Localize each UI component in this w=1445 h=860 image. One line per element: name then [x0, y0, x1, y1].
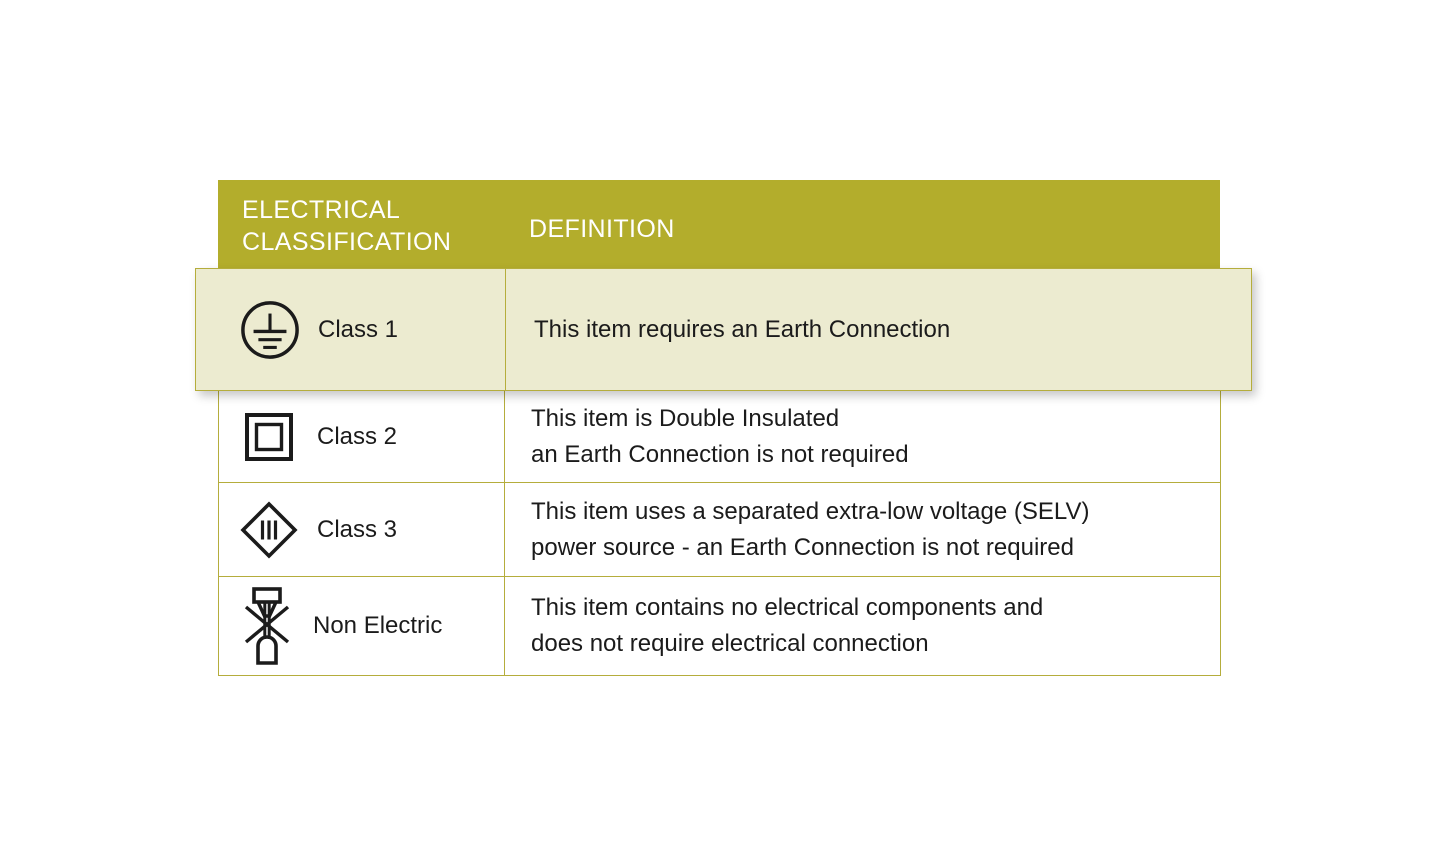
electrical-classification-table: ELECTRICAL CLASSIFICATION DEFINITION Cla… — [0, 0, 1445, 860]
table-row[interactable]: Class 3 This item uses a separated extra… — [219, 483, 1220, 577]
earth-ground-icon — [240, 300, 300, 360]
definition-text: This item uses a separated extra-low vol… — [531, 494, 1089, 565]
class-label: Non Electric — [313, 612, 442, 640]
class-label: Class 2 — [317, 423, 397, 451]
table-row-highlighted-class-1[interactable]: Class 1 This item requires an Earth Conn… — [195, 268, 1252, 391]
class-cell-class-1: Class 1 — [196, 269, 506, 390]
class-label: Class 1 — [318, 316, 398, 344]
class-cell-class-2: Class 2 — [219, 391, 505, 482]
table-row[interactable]: Non Electric This item contains no elect… — [219, 577, 1220, 675]
header-cell-definition: DEFINITION — [529, 213, 929, 245]
selv-diamond-icon — [239, 500, 299, 560]
definition-text: This item requires an Earth Connection — [534, 312, 950, 348]
definition-text: This item contains no electrical compone… — [531, 590, 1043, 661]
definition-cell-class-3: This item uses a separated extra-low vol… — [505, 483, 1220, 576]
class-label: Class 3 — [317, 516, 397, 544]
class-cell-class-3: Class 3 — [219, 483, 505, 576]
definition-cell-class-1: This item requires an Earth Connection — [506, 269, 1251, 390]
definition-text: This item is Double Insulated an Earth C… — [531, 401, 909, 472]
double-insulated-square-icon — [239, 407, 299, 467]
table-row[interactable]: Class 2 This item is Double Insulated an… — [219, 391, 1220, 483]
non-electric-crossed-plug-icon — [239, 585, 295, 667]
header-cell-electrical-classification: ELECTRICAL CLASSIFICATION — [242, 194, 522, 258]
definition-cell-non-electric: This item contains no electrical compone… — [505, 577, 1220, 675]
table-header-row: ELECTRICAL CLASSIFICATION DEFINITION — [218, 180, 1220, 270]
class-cell-non-electric: Non Electric — [219, 577, 505, 675]
definition-cell-class-2: This item is Double Insulated an Earth C… — [505, 391, 1220, 482]
